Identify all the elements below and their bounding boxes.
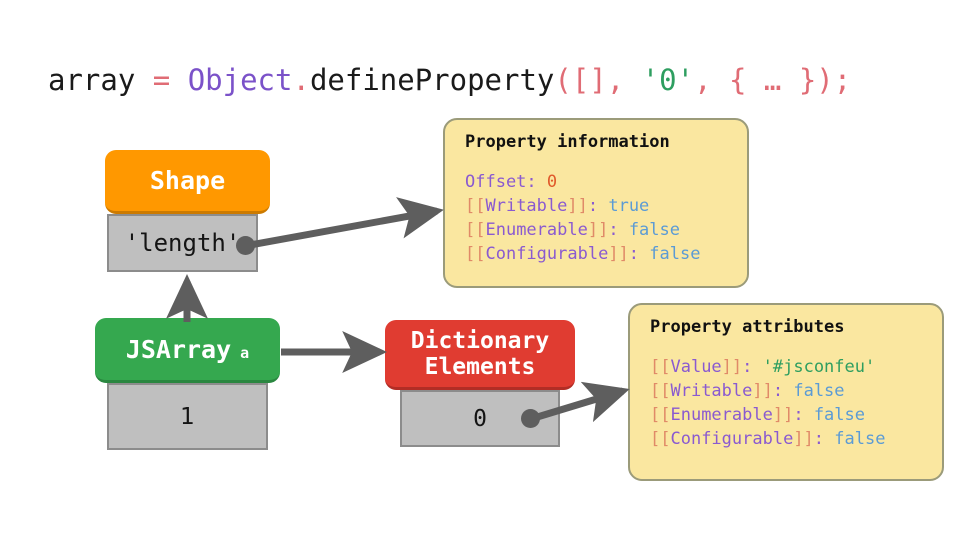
note-row-open-brackets: [[ bbox=[465, 196, 485, 216]
code-token-6: defineProperty bbox=[310, 63, 554, 97]
note-row-colon: : bbox=[608, 220, 628, 240]
code-token-0: array bbox=[48, 63, 135, 97]
code-line: array = Object.defineProperty([], '0', {… bbox=[48, 60, 851, 100]
note-row-colon: : bbox=[814, 429, 834, 449]
note-row-value: 0 bbox=[547, 172, 557, 192]
note-row-value: false bbox=[629, 220, 680, 240]
note-row-open-brackets: [[ bbox=[650, 429, 670, 449]
code-token-5: . bbox=[292, 63, 309, 97]
note-row-open-brackets: [[ bbox=[465, 244, 485, 264]
code-token-4: Object bbox=[188, 63, 293, 97]
note-row-colon: : bbox=[629, 244, 649, 264]
code-token-9: , { … }); bbox=[694, 63, 851, 97]
note-row-open-brackets: [[ bbox=[650, 381, 670, 401]
property-information-note: Property information Offset: 0[[Writable… bbox=[443, 118, 749, 288]
code-token-8: '0' bbox=[642, 63, 694, 97]
note-row-key: Enumerable bbox=[670, 405, 772, 425]
note-row: [[Writable]]: true bbox=[465, 194, 729, 218]
note-row-key: Offset bbox=[465, 172, 526, 192]
shape-slot-length-label: 'length' bbox=[125, 229, 241, 257]
jsarray-title: JSArray bbox=[126, 335, 231, 364]
property-attributes-title: Property attributes bbox=[650, 317, 924, 337]
code-token-1 bbox=[135, 63, 152, 97]
note-row-colon: : bbox=[773, 381, 793, 401]
note-row-close-brackets: ]] bbox=[588, 220, 608, 240]
note-row: [[Value]]: '#jsconfeu' bbox=[650, 355, 924, 379]
note-row-key: Enumerable bbox=[485, 220, 587, 240]
dictionary-connector-dot bbox=[521, 409, 540, 428]
note-row: [[Enumerable]]: false bbox=[650, 403, 924, 427]
length-connector-dot bbox=[236, 236, 255, 255]
note-row-close-brackets: ]] bbox=[773, 405, 793, 425]
note-row-value: '#jsconfeu' bbox=[763, 357, 876, 377]
shape-title: Shape bbox=[150, 166, 225, 195]
note-row-colon: : bbox=[526, 172, 546, 192]
dictionary-elements-title-line2: Elements bbox=[425, 354, 536, 380]
property-information-rows: Offset: 0[[Writable]]: true[[Enumerable]… bbox=[465, 170, 729, 266]
note-row-close-brackets: ]] bbox=[567, 196, 587, 216]
jsarray-object-header[interactable]: JSArray a bbox=[95, 318, 280, 383]
note-row-value: false bbox=[793, 381, 844, 401]
note-row-value: true bbox=[608, 196, 649, 216]
jsarray-slot-length-value[interactable]: 1 bbox=[107, 383, 268, 450]
arrow-length-to-property-information bbox=[250, 211, 437, 245]
note-row: Offset: 0 bbox=[465, 170, 729, 194]
note-row-key: Writable bbox=[670, 381, 752, 401]
note-row: [[Configurable]]: false bbox=[465, 242, 729, 266]
note-row-value: false bbox=[834, 429, 885, 449]
code-token-3 bbox=[170, 63, 187, 97]
note-row: [[Configurable]]: false bbox=[650, 427, 924, 451]
note-row: [[Enumerable]]: false bbox=[465, 218, 729, 242]
dictionary-elements-header[interactable]: Dictionary Elements bbox=[385, 320, 575, 390]
note-row-value: false bbox=[814, 405, 865, 425]
property-attributes-note: Property attributes [[Value]]: '#jsconfe… bbox=[628, 303, 944, 481]
note-row-key: Value bbox=[670, 357, 721, 377]
note-row-colon: : bbox=[588, 196, 608, 216]
property-attributes-rows: [[Value]]: '#jsconfeu'[[Writable]]: fals… bbox=[650, 355, 924, 451]
note-row-close-brackets: ]] bbox=[722, 357, 742, 377]
note-row-open-brackets: [[ bbox=[650, 357, 670, 377]
jsarray-subscript: a bbox=[240, 344, 249, 362]
note-row-colon: : bbox=[742, 357, 762, 377]
note-row-open-brackets: [[ bbox=[465, 220, 485, 240]
note-row-close-brackets: ]] bbox=[608, 244, 628, 264]
jsarray-slot-value-label: 1 bbox=[180, 404, 195, 430]
dictionary-elements-slot-0-label: 0 bbox=[473, 406, 487, 432]
note-row: [[Writable]]: false bbox=[650, 379, 924, 403]
note-row-close-brackets: ]] bbox=[752, 381, 772, 401]
code-token-7: ([], bbox=[554, 63, 641, 97]
shape-object-header[interactable]: Shape bbox=[105, 150, 270, 214]
code-token-2: = bbox=[153, 63, 170, 97]
note-row-key: Writable bbox=[485, 196, 567, 216]
note-row-key: Configurable bbox=[485, 244, 608, 264]
diagram-canvas: array = Object.defineProperty([], '0', {… bbox=[0, 0, 960, 540]
note-row-value: false bbox=[649, 244, 700, 264]
dictionary-elements-title-line1: Dictionary bbox=[411, 328, 549, 354]
note-row-colon: : bbox=[793, 405, 813, 425]
note-row-close-brackets: ]] bbox=[793, 429, 813, 449]
note-row-key: Configurable bbox=[670, 429, 793, 449]
note-row-open-brackets: [[ bbox=[650, 405, 670, 425]
property-information-title: Property information bbox=[465, 132, 729, 152]
